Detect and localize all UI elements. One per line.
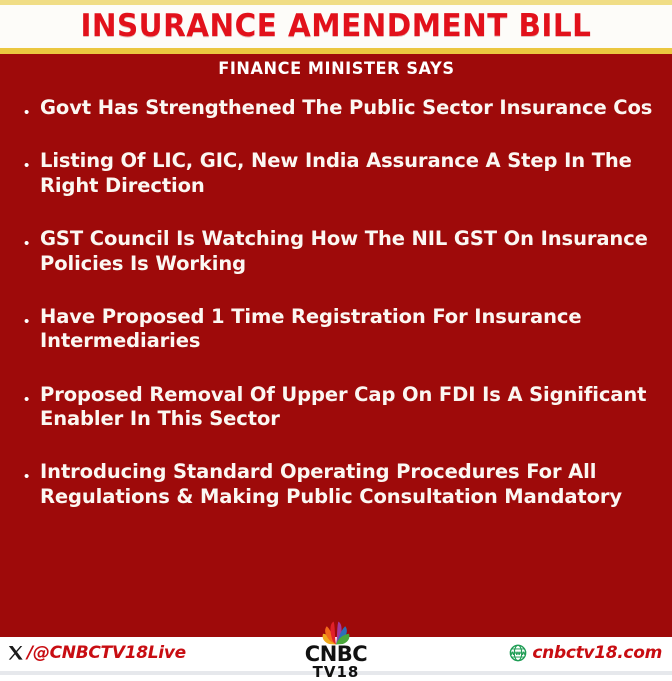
- bullet-dot-icon: •: [24, 236, 40, 251]
- website-group[interactable]: www cnbctv18.com: [509, 643, 662, 663]
- x-twitter-icon[interactable]: [8, 645, 25, 662]
- news-graphic-card: INSURANCE AMENDMENT BILL FINANCE MINISTE…: [0, 0, 672, 675]
- list-item-text: Have Proposed 1 Time Registration For In…: [40, 305, 658, 354]
- social-handle-text[interactable]: /@CNBCTV18Live: [27, 643, 186, 663]
- list-item-text: Proposed Removal Of Upper Cap On FDI Is …: [40, 383, 658, 432]
- bullet-dot-icon: •: [24, 392, 40, 407]
- website-text[interactable]: cnbctv18.com: [532, 643, 662, 663]
- list-item: • Introducing Standard Operating Procedu…: [24, 460, 658, 509]
- svg-text:www: www: [510, 650, 527, 657]
- bullet-list: • Govt Has Strengthened The Public Secto…: [24, 96, 658, 632]
- bullet-dot-icon: •: [24, 158, 40, 173]
- cnbc-logo-line1: CNBC: [282, 645, 390, 665]
- cnbc-logo-line2: TV18: [282, 665, 390, 680]
- list-item-text: Listing Of LIC, GIC, New India Assurance…: [40, 149, 658, 198]
- social-handle-group[interactable]: /@CNBCTV18Live: [8, 643, 186, 663]
- globe-www-icon: www: [509, 644, 527, 662]
- bullet-dot-icon: •: [24, 105, 40, 120]
- list-item-text: Introducing Standard Operating Procedure…: [40, 460, 658, 509]
- list-item: • GST Council Is Watching How The NIL GS…: [24, 227, 658, 276]
- subheader-band: FINANCE MINISTER SAYS: [0, 54, 672, 85]
- subheader-text: FINANCE MINISTER SAYS: [218, 61, 454, 78]
- list-item: • Govt Has Strengthened The Public Secto…: [24, 96, 658, 120]
- list-item: • Proposed Removal Of Upper Cap On FDI I…: [24, 383, 658, 432]
- bullet-dot-icon: •: [24, 469, 40, 484]
- list-item-text: GST Council Is Watching How The NIL GST …: [40, 227, 658, 276]
- header-band: INSURANCE AMENDMENT BILL: [0, 5, 672, 48]
- list-item-text: Govt Has Strengthened The Public Sector …: [40, 96, 658, 120]
- cnbc-tv18-logo: CNBC TV18: [282, 614, 390, 680]
- list-item: • Listing Of LIC, GIC, New India Assuran…: [24, 149, 658, 198]
- bullet-dot-icon: •: [24, 314, 40, 329]
- page-title: INSURANCE AMENDMENT BILL: [81, 11, 592, 42]
- list-item: • Have Proposed 1 Time Registration For …: [24, 305, 658, 354]
